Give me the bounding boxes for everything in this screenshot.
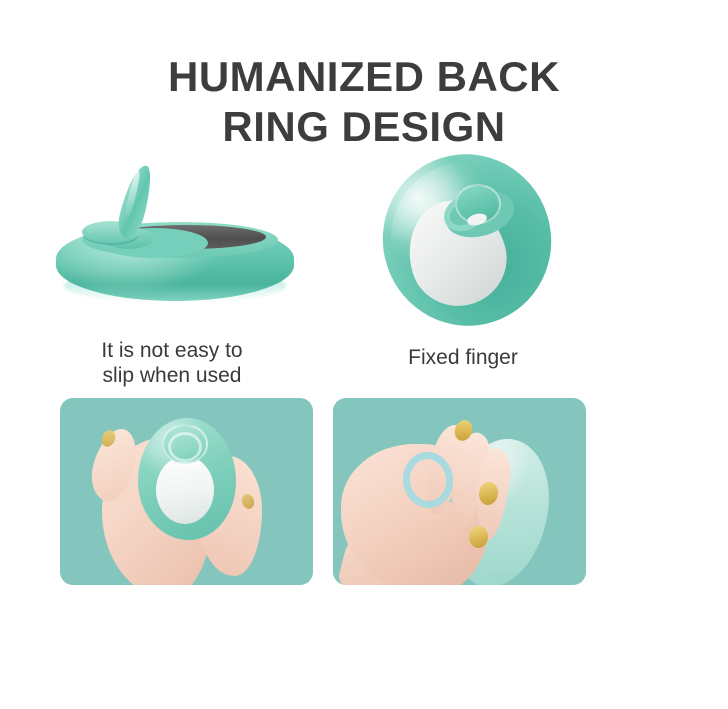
page-title-line-1: HUMANIZED BACK: [0, 52, 728, 102]
feature-caption-fixed-finger: Fixed finger: [363, 345, 563, 370]
page-title-line-2: RING DESIGN: [0, 102, 728, 152]
photo-finger-through-ring: [333, 398, 586, 585]
held-device-ring-tab-loop: [168, 432, 202, 462]
feature-caption-anti-slip-line-2: slip when used: [52, 363, 292, 388]
feature-caption-fixed-finger-line-1: Fixed finger: [363, 345, 563, 370]
feature-caption-anti-slip-line-1: It is not easy to: [52, 338, 292, 363]
photo-hand-holding-device: [60, 398, 313, 585]
feature-caption-anti-slip: It is not easy to slip when used: [52, 338, 292, 388]
product-render-side-view: [38, 165, 308, 320]
held-device-inset-panel: [156, 456, 214, 524]
product-render-back-view: [375, 148, 565, 333]
page-title: HUMANIZED BACK RING DESIGN: [0, 52, 728, 152]
